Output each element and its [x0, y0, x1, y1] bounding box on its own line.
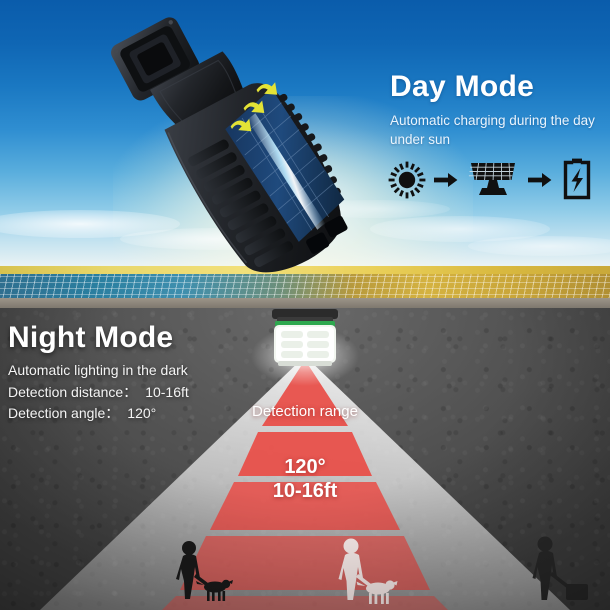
night-mode-subtitle: Automatic lighting in the dark	[8, 360, 338, 382]
detection-distance-spec: Detection distance：10-16ft	[8, 382, 338, 404]
solar-street-light-product	[62, 0, 402, 296]
detection-distance-label: Detection distance：	[8, 384, 137, 400]
arrow-right-icon	[434, 172, 458, 188]
detection-range-label: Detection range	[0, 403, 610, 420]
product-marketing-image: Day Mode Automatic charging during the d…	[0, 0, 610, 610]
detection-cone-values: 120° 10-16ft	[0, 455, 610, 504]
cone-angle-value: 120°	[284, 456, 325, 478]
night-mode-panel: Night Mode Automatic lighting in the dar…	[0, 308, 610, 610]
cloud	[468, 236, 610, 256]
farm-ground-strip	[0, 298, 610, 308]
cone-distance-value: 10-16ft	[273, 480, 337, 502]
day-mode-panel: Day Mode Automatic charging during the d…	[0, 0, 610, 308]
day-mode-subtitle: Automatic charging during the day under …	[390, 111, 605, 149]
solar-panel-icon	[466, 160, 520, 200]
day-mode-title: Day Mode	[390, 70, 605, 104]
battery-charging-icon	[560, 157, 594, 203]
day-mode-text-block: Day Mode Automatic charging during the d…	[390, 70, 605, 149]
night-mode-title: Night Mode	[8, 321, 338, 355]
day-mode-subtitle-line1: Automatic charging during the day	[390, 113, 595, 128]
arrow-right-icon	[528, 172, 552, 188]
charging-flow-diagram	[388, 157, 594, 203]
detection-distance-value: 10-16ft	[145, 384, 189, 400]
